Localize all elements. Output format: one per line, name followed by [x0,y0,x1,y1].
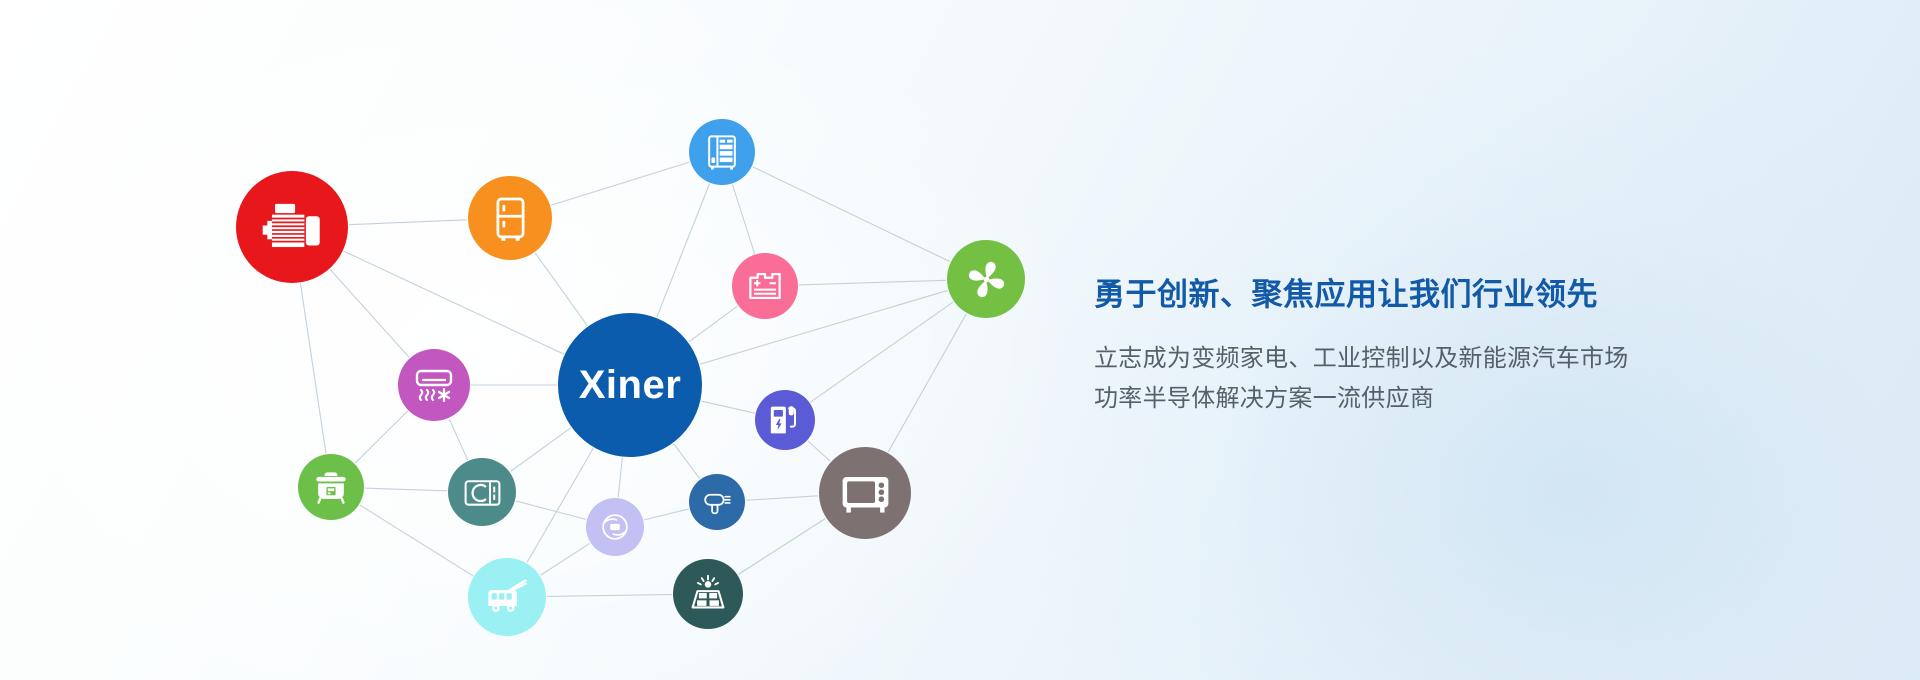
solar-panel-icon-glyph [685,571,731,617]
network-edge [349,220,467,225]
fan-icon[interactable] [947,240,1025,318]
electric-bus-icon-glyph [482,572,533,623]
body-copy-line-2: 功率半导体解决方案一流供应商 [1094,379,1814,419]
network-edges [0,0,1120,680]
microwave-oven-icon[interactable] [819,447,911,539]
hair-dryer-icon[interactable] [689,474,745,530]
network-edge [701,401,755,413]
network-edge [732,184,754,253]
induction-cooker-icon[interactable] [448,458,516,526]
network-edge [344,251,564,354]
network-edge [516,501,586,519]
hub-node[interactable]: Xiner [558,313,702,457]
rice-cooker-icon-glyph [309,465,353,509]
network-edge [360,505,473,576]
marketing-copy: 勇于创新、聚焦应用让我们行业领先 立志成为变频家电、工业控制以及新能源汽车市场 … [1094,276,1814,418]
network-edge [674,444,700,479]
network-edge [551,162,689,205]
air-conditioner-icon[interactable] [398,349,470,421]
network-edge [535,253,587,326]
induction-cooker-icon-glyph [460,470,505,515]
battery-icon[interactable] [732,253,798,319]
ev-charging-icon-glyph [765,400,805,440]
body-copy: 立志成为变频家电、工业控制以及新能源汽车市场 功率半导体解决方案一流供应商 [1094,339,1814,418]
network-edge [799,280,946,285]
washing-machine-icon[interactable] [586,498,644,556]
ev-charging-icon[interactable] [755,390,815,450]
electric-motor-icon-glyph [255,190,329,264]
solar-panel-icon[interactable] [673,559,743,629]
network-edge [541,543,590,575]
headline: 勇于创新、聚焦应用让我们行业领先 [1094,276,1814,313]
air-conditioner-icon-glyph [410,361,458,409]
network-edge [527,448,593,562]
network-edge [657,184,710,317]
network-edge [355,411,408,463]
network-edge [888,314,966,452]
rice-cooker-icon[interactable] [298,454,364,520]
hair-dryer-icon-glyph [699,484,736,521]
network-edge [365,488,447,491]
refrigerator-icon-glyph [483,191,538,246]
network-edge [449,419,468,460]
network-edge [547,595,672,597]
network-edge [618,458,622,498]
application-network-diagram: Xiner [0,0,1120,680]
hero-banner: Xiner 勇于创新、聚焦应用让我们行业领先 立志成为变频家电、工业控制以及新能… [0,0,1920,680]
network-edge [746,496,818,500]
network-edge [510,428,570,472]
network-edge [330,269,409,357]
network-edge [753,167,950,262]
microwave-oven-icon-glyph [835,463,896,524]
hub-label: Xiner [579,363,682,408]
network-edge [644,509,689,520]
network-edge [689,306,738,342]
fan-icon-glyph [961,254,1012,305]
refrigerator-icon[interactable] [468,176,552,260]
network-edge [738,518,825,574]
network-edge [300,283,326,453]
electric-motor-icon[interactable] [236,171,348,283]
display-cooler-icon[interactable] [689,119,755,185]
electric-bus-icon[interactable] [468,558,546,636]
washing-machine-icon-glyph [596,508,634,546]
display-cooler-icon-glyph [700,130,744,174]
body-copy-line-1: 立志成为变频家电、工业控制以及新能源汽车市场 [1094,339,1814,379]
battery-icon-glyph [743,264,787,308]
network-edge [810,302,953,402]
network-edge [808,441,830,461]
